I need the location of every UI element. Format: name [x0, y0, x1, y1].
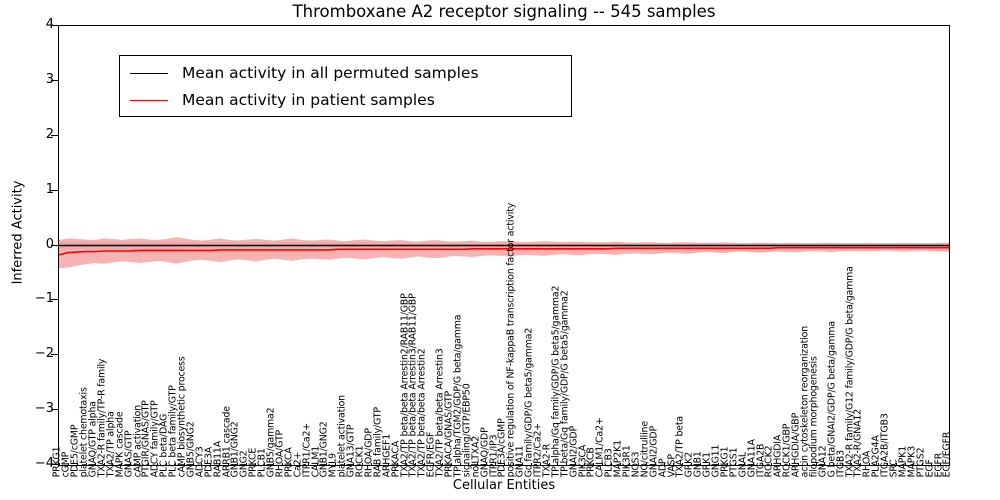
- y-tick-label: −1: [14, 292, 54, 305]
- y-tick-label: 2: [14, 128, 54, 141]
- y-tick-mark: [51, 80, 58, 81]
- y-tick-mark: [51, 245, 58, 246]
- patient-band: [59, 237, 949, 268]
- legend: Mean activity in all permuted samples Me…: [119, 55, 572, 117]
- y-tick-mark: [51, 354, 58, 355]
- y-tick-label: 1: [14, 183, 54, 196]
- legend-swatch-patient: [130, 100, 168, 101]
- legend-swatch-permuted: [130, 73, 168, 74]
- legend-label-permuted: Mean activity in all permuted samples: [182, 64, 479, 82]
- x-axis-label: Cellular Entities: [58, 478, 950, 493]
- y-tick-mark: [51, 25, 58, 26]
- legend-item-patient: Mean activity in patient samples: [130, 87, 435, 113]
- y-tick-mark: [51, 190, 58, 191]
- y-tick-mark: [51, 464, 58, 465]
- plot-area: Mean activity in all permuted samples Me…: [58, 25, 950, 466]
- y-tick-label: −2: [14, 347, 54, 360]
- y-tick-label: −4: [14, 457, 54, 470]
- legend-label-patient: Mean activity in patient samples: [182, 91, 435, 109]
- matplotlib-figure: Thromboxane A2 receptor signaling -- 545…: [0, 0, 1000, 500]
- y-tick-label: 0: [14, 238, 54, 251]
- page-title: Thromboxane A2 receptor signaling -- 545…: [58, 2, 950, 21]
- y-tick-mark: [51, 409, 58, 410]
- y-tick-mark: [51, 135, 58, 136]
- legend-item-permuted: Mean activity in all permuted samples: [130, 60, 479, 86]
- y-tick-label: 4: [14, 18, 54, 31]
- y-tick-label: −3: [14, 402, 54, 415]
- y-tick-label: 3: [14, 73, 54, 86]
- y-tick-mark: [51, 299, 58, 300]
